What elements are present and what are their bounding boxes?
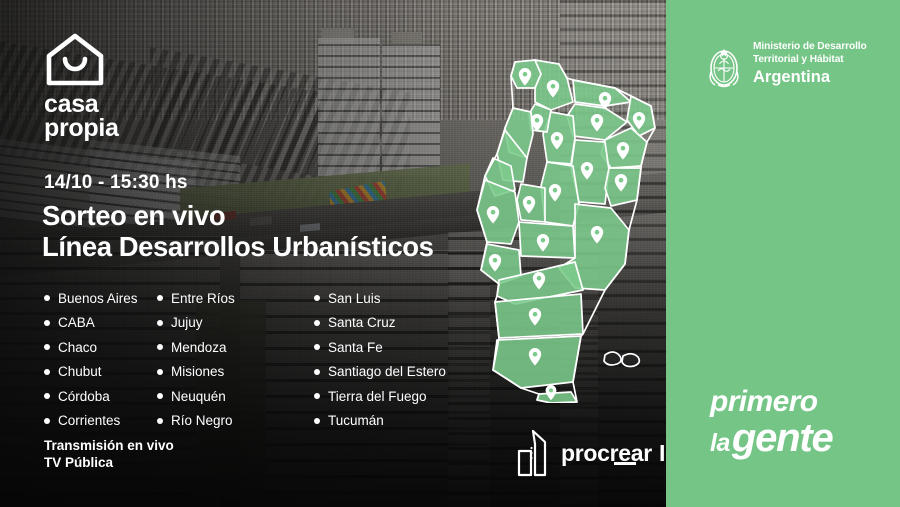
casa-propia-wordmark: casa propia xyxy=(44,92,119,140)
argentina-coat-of-arms-icon xyxy=(704,38,744,90)
province-label: Entre Ríos xyxy=(171,291,235,306)
province-label: Santa Fe xyxy=(328,340,383,355)
province-item: Corrientes xyxy=(44,409,157,434)
ministry-name: Ministerio de Desarrollo Territorial y H… xyxy=(753,41,867,66)
bullet-dot-icon xyxy=(157,418,163,424)
province-list: Buenos Aires CABA Chaco Chubut Córdoba C… xyxy=(44,286,446,433)
province-label: Corrientes xyxy=(58,413,120,428)
province-label: Chubut xyxy=(58,364,102,379)
slogan-line-2: la gente xyxy=(710,416,833,461)
province-label: Jujuy xyxy=(171,315,203,330)
province-label: Misiones xyxy=(171,364,224,379)
procrear-name: procrear xyxy=(561,440,652,466)
province-label: CABA xyxy=(58,315,95,330)
procrear-building-icon xyxy=(512,428,552,478)
province-item: Tierra del Fuego xyxy=(314,384,446,409)
province-column-3: San Luis Santa Cruz Santa Fe Santiago de… xyxy=(314,286,446,433)
province-column-1: Buenos Aires CABA Chaco Chubut Córdoba C… xyxy=(44,286,157,433)
bullet-dot-icon xyxy=(314,418,320,424)
province-label: Santiago del Estero xyxy=(328,364,446,379)
promo-poster: casa propia 14/10 - 15:30 hs Sorteo en v… xyxy=(0,0,900,507)
poster-left-content: casa propia 14/10 - 15:30 hs Sorteo en v… xyxy=(0,0,666,507)
bullet-dot-icon xyxy=(44,344,50,350)
bullet-dot-icon xyxy=(314,344,320,350)
bullet-dot-icon xyxy=(314,320,320,326)
bullet-dot-icon xyxy=(314,393,320,399)
province-item: Santa Fe xyxy=(314,335,446,360)
campaign-slogan: primero la gente xyxy=(710,386,833,461)
province-label: Neuquén xyxy=(171,389,226,404)
bullet-dot-icon xyxy=(157,295,163,301)
event-datetime: 14/10 - 15:30 hs xyxy=(44,172,188,194)
house-smile-icon xyxy=(44,32,106,88)
bullet-dot-icon xyxy=(44,418,50,424)
government-logo: Ministerio de Desarrollo Territorial y H… xyxy=(704,38,867,90)
province-label: Mendoza xyxy=(171,340,227,355)
province-label: San Luis xyxy=(328,291,381,306)
province-item: Santa Cruz xyxy=(314,311,446,336)
bullet-dot-icon xyxy=(44,295,50,301)
province-item: San Luis xyxy=(314,286,446,311)
province-label: Chaco xyxy=(58,340,97,355)
province-item: Río Negro xyxy=(157,409,314,434)
bullet-dot-icon xyxy=(157,369,163,375)
province-label: Río Negro xyxy=(171,413,233,428)
procrear-logo: procrear II xyxy=(512,428,672,478)
province-item: Santiago del Estero xyxy=(314,360,446,385)
bullet-dot-icon xyxy=(44,320,50,326)
province-item: Jujuy xyxy=(157,311,314,336)
procrear-wordmark: procrear xyxy=(561,440,652,467)
province-label: Tierra del Fuego xyxy=(328,389,427,404)
broadcast-line-1: Transmisión en vivo xyxy=(44,437,174,454)
province-item: Buenos Aires xyxy=(44,286,157,311)
province-item: Chubut xyxy=(44,360,157,385)
bullet-dot-icon xyxy=(314,295,320,301)
event-headline: Sorteo en vivo Línea Desarrollos Urbanís… xyxy=(42,200,434,262)
bullet-dot-icon xyxy=(314,369,320,375)
province-item: Chaco xyxy=(44,335,157,360)
slogan-line-1: primero xyxy=(710,386,833,418)
bullet-dot-icon xyxy=(44,369,50,375)
province-item: CABA xyxy=(44,311,157,336)
bullet-dot-icon xyxy=(157,344,163,350)
province-item: Mendoza xyxy=(157,335,314,360)
broadcast-info: Transmisión en vivo TV Pública xyxy=(44,437,174,471)
province-label: Santa Cruz xyxy=(328,315,396,330)
bullet-dot-icon xyxy=(157,320,163,326)
brand-name-line-2: propia xyxy=(44,116,119,140)
broadcast-line-2: TV Pública xyxy=(44,454,174,471)
province-label: Córdoba xyxy=(58,389,110,404)
province-label: Tucumán xyxy=(328,413,384,428)
province-label: Buenos Aires xyxy=(58,291,138,306)
slogan-gente: gente xyxy=(732,416,833,461)
bullet-dot-icon xyxy=(44,393,50,399)
headline-line-2: Línea Desarrollos Urbanísticos xyxy=(42,231,434,262)
province-item: Tucumán xyxy=(314,409,446,434)
brand-green-panel: Ministerio de Desarrollo Territorial y H… xyxy=(666,0,900,507)
government-text: Ministerio de Desarrollo Territorial y H… xyxy=(753,41,867,87)
ministry-line-1: Ministerio de Desarrollo xyxy=(753,41,867,53)
bullet-dot-icon xyxy=(157,393,163,399)
province-item: Entre Ríos xyxy=(157,286,314,311)
province-item: Córdoba xyxy=(44,384,157,409)
casa-propia-logo xyxy=(44,32,106,93)
slogan-la: la xyxy=(710,429,730,458)
province-item: Neuquén xyxy=(157,384,314,409)
brand-name-line-1: casa xyxy=(44,92,119,116)
province-item: Misiones xyxy=(157,360,314,385)
procrear-underline xyxy=(614,462,636,465)
country-label: Argentina xyxy=(753,68,867,87)
headline-line-1: Sorteo en vivo xyxy=(42,200,434,231)
province-column-2: Entre Ríos Jujuy Mendoza Misiones Neuqué… xyxy=(157,286,314,433)
ministry-line-2: Territorial y Hábitat xyxy=(753,54,867,66)
